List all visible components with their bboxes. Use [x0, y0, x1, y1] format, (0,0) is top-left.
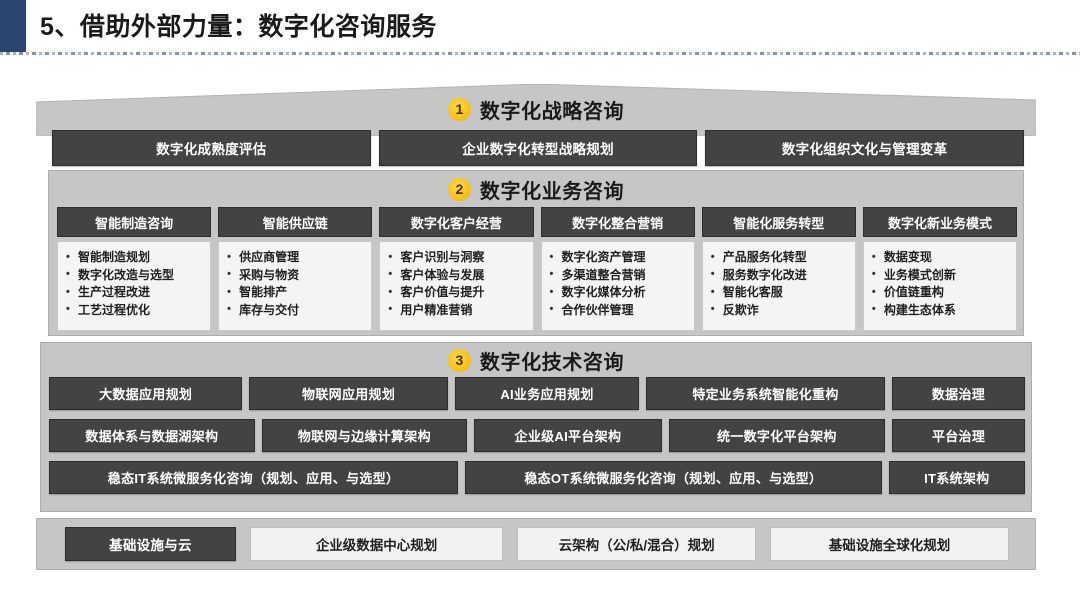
infrastructure-box[interactable]: 企业级数据中心规划: [250, 527, 503, 561]
list-item: 客户体验与发展: [387, 267, 528, 285]
list-item: 客户识别与洞察: [387, 249, 528, 267]
business-column-body: 数据变现 业务模式创新 价值链重构 构建生态体系: [863, 241, 1017, 331]
business-column: 数字化新业务模式 数据变现 业务模式创新 价值链重构 构建生态体系: [863, 207, 1017, 331]
list-item: 价值链重构: [871, 284, 1012, 302]
list-item: 工艺过程优化: [65, 302, 206, 320]
tier3-title: 数字化技术咨询: [480, 346, 624, 375]
business-column-header[interactable]: 智能制造咨询: [57, 207, 211, 237]
business-column-body: 数字化资产管理 多渠道整合营销 数字化媒体分析 合作伙伴管理: [541, 241, 695, 331]
tier1-title: 数字化战略咨询: [480, 95, 624, 124]
tech-box[interactable]: AI业务应用规划: [455, 377, 639, 410]
business-column-header[interactable]: 数字化客户经营: [379, 207, 533, 237]
business-column-body: 智能制造规划 数字化改造与选型 生产过程改进 工艺过程优化: [57, 241, 211, 331]
infrastructure-box[interactable]: 基础设施全球化规划: [770, 527, 1009, 561]
list-item: 库存与交付: [226, 302, 367, 320]
list-item: 智能排产: [226, 284, 367, 302]
list-item: 供应商管理: [226, 249, 367, 267]
tech-box[interactable]: IT系统架构: [889, 461, 1025, 494]
title-accent-bar: [0, 0, 26, 52]
business-column-header[interactable]: 数字化新业务模式: [863, 207, 1017, 237]
tech-row-3: 稳态IT系统微服务化咨询（规划、应用、与选型） 稳态OT系统微服务化咨询（规划、…: [49, 461, 1025, 494]
tier1-box[interactable]: 数字化成熟度评估: [52, 130, 371, 166]
list-item: 智能化客服: [710, 284, 851, 302]
tier1-box-row: 数字化成熟度评估 企业数字化转型战略规划 数字化组织文化与管理变革: [52, 130, 1024, 166]
business-column-header[interactable]: 智能供应链: [218, 207, 372, 237]
business-column-header[interactable]: 智能化服务转型: [702, 207, 856, 237]
business-column-body: 客户识别与洞察 客户体验与发展 客户价值与提升 用户精准营销: [379, 241, 533, 331]
tech-box[interactable]: 稳态IT系统微服务化咨询（规划、应用、与选型）: [49, 461, 458, 494]
list-item: 数据变现: [871, 249, 1012, 267]
tech-box[interactable]: 物联网与边缘计算架构: [262, 419, 468, 452]
tech-box[interactable]: 企业级AI平台架构: [474, 419, 661, 452]
list-item: 智能制造规划: [65, 249, 206, 267]
infrastructure-box[interactable]: 云架构（公/私/混合）规划: [517, 527, 756, 561]
list-item: 多渠道整合营销: [549, 267, 690, 285]
business-column: 智能化服务转型 产品服务化转型 服务数字化改进 智能化客服 反欺诈: [702, 207, 856, 331]
list-item: 用户精准营销: [387, 302, 528, 320]
tier2-number-badge: 2: [448, 178, 471, 201]
tier1-box[interactable]: 企业数字化转型战略规划: [379, 130, 698, 166]
tech-box[interactable]: 平台治理: [892, 419, 1025, 452]
tier2-column-row: 智能制造咨询 智能制造规划 数字化改造与选型 生产过程改进 工艺过程优化 智能供…: [57, 207, 1017, 331]
slide-canvas: 5、借助外部力量：数字化咨询服务 1 数字化战略咨询 数字化成熟度评估 企业数字…: [0, 0, 1080, 607]
tier3-number-badge: 3: [448, 349, 471, 372]
list-item: 合作伙伴管理: [549, 302, 690, 320]
page-title: 5、借助外部力量：数字化咨询服务: [40, 7, 437, 43]
tech-row-2: 数据体系与数据湖架构 物联网与边缘计算架构 企业级AI平台架构 统一数字化平台架…: [49, 419, 1025, 452]
list-item: 服务数字化改进: [710, 267, 851, 285]
tech-box[interactable]: 数据体系与数据湖架构: [49, 419, 255, 452]
tier2-title: 数字化业务咨询: [480, 175, 624, 204]
tech-box[interactable]: 特定业务系统智能化重构: [646, 377, 885, 410]
business-column: 智能制造咨询 智能制造规划 数字化改造与选型 生产过程改进 工艺过程优化: [57, 207, 211, 331]
tier2-header: 2 数字化业务咨询: [49, 171, 1023, 207]
list-item: 客户价值与提升: [387, 284, 528, 302]
list-item: 业务模式创新: [871, 267, 1012, 285]
tier3-header: 3 数字化技术咨询: [41, 343, 1031, 377]
list-item: 数字化资产管理: [549, 249, 690, 267]
list-item: 产品服务化转型: [710, 249, 851, 267]
tier-strategy-consulting: 1 数字化战略咨询 数字化成熟度评估 企业数字化转型战略规划 数字化组织文化与管…: [36, 84, 1036, 168]
tier1-box[interactable]: 数字化组织文化与管理变革: [705, 130, 1024, 166]
tier1-header: 1 数字化战略咨询: [36, 92, 1036, 126]
list-item: 数字化改造与选型: [65, 267, 206, 285]
tech-box[interactable]: 数据治理: [892, 377, 1025, 410]
tech-box[interactable]: 稳态OT系统微服务化咨询（规划、应用、与选型）: [465, 461, 882, 494]
list-item: 数字化媒体分析: [549, 284, 690, 302]
pyramid-diagram: 1 数字化战略咨询 数字化成熟度评估 企业数字化转型战略规划 数字化组织文化与管…: [36, 84, 1036, 584]
infrastructure-row: 基础设施与云 企业级数据中心规划 云架构（公/私/混合）规划 基础设施全球化规划: [65, 527, 1009, 561]
tech-row-1: 大数据应用规划 物联网应用规划 AI业务应用规划 特定业务系统智能化重构 数据治…: [49, 377, 1025, 410]
tech-box[interactable]: 物联网应用规划: [249, 377, 448, 410]
business-column-body: 产品服务化转型 服务数字化改进 智能化客服 反欺诈: [702, 241, 856, 331]
list-item: 生产过程改进: [65, 284, 206, 302]
header-divider: [0, 52, 1080, 55]
list-item: 采购与物资: [226, 267, 367, 285]
business-column: 数字化客户经营 客户识别与洞察 客户体验与发展 客户价值与提升 用户精准营销: [379, 207, 533, 331]
tier-business-consulting: 2 数字化业务咨询 智能制造咨询 智能制造规划 数字化改造与选型 生产过程改进 …: [48, 170, 1024, 336]
tier1-number-badge: 1: [448, 98, 471, 121]
list-item: 构建生态体系: [871, 302, 1012, 320]
tech-box[interactable]: 统一数字化平台架构: [669, 419, 886, 452]
list-item: 反欺诈: [710, 302, 851, 320]
business-column-body: 供应商管理 采购与物资 智能排产 库存与交付: [218, 241, 372, 331]
infrastructure-box[interactable]: 基础设施与云: [65, 527, 236, 561]
tier-infrastructure: 基础设施与云 企业级数据中心规划 云架构（公/私/混合）规划 基础设施全球化规划: [36, 518, 1036, 570]
business-column: 智能供应链 供应商管理 采购与物资 智能排产 库存与交付: [218, 207, 372, 331]
business-column-header[interactable]: 数字化整合营销: [541, 207, 695, 237]
business-column: 数字化整合营销 数字化资产管理 多渠道整合营销 数字化媒体分析 合作伙伴管理: [541, 207, 695, 331]
tech-box[interactable]: 大数据应用规划: [49, 377, 242, 410]
tier-technology-consulting: 3 数字化技术咨询 大数据应用规划 物联网应用规划 AI业务应用规划 特定业务系…: [40, 342, 1032, 512]
